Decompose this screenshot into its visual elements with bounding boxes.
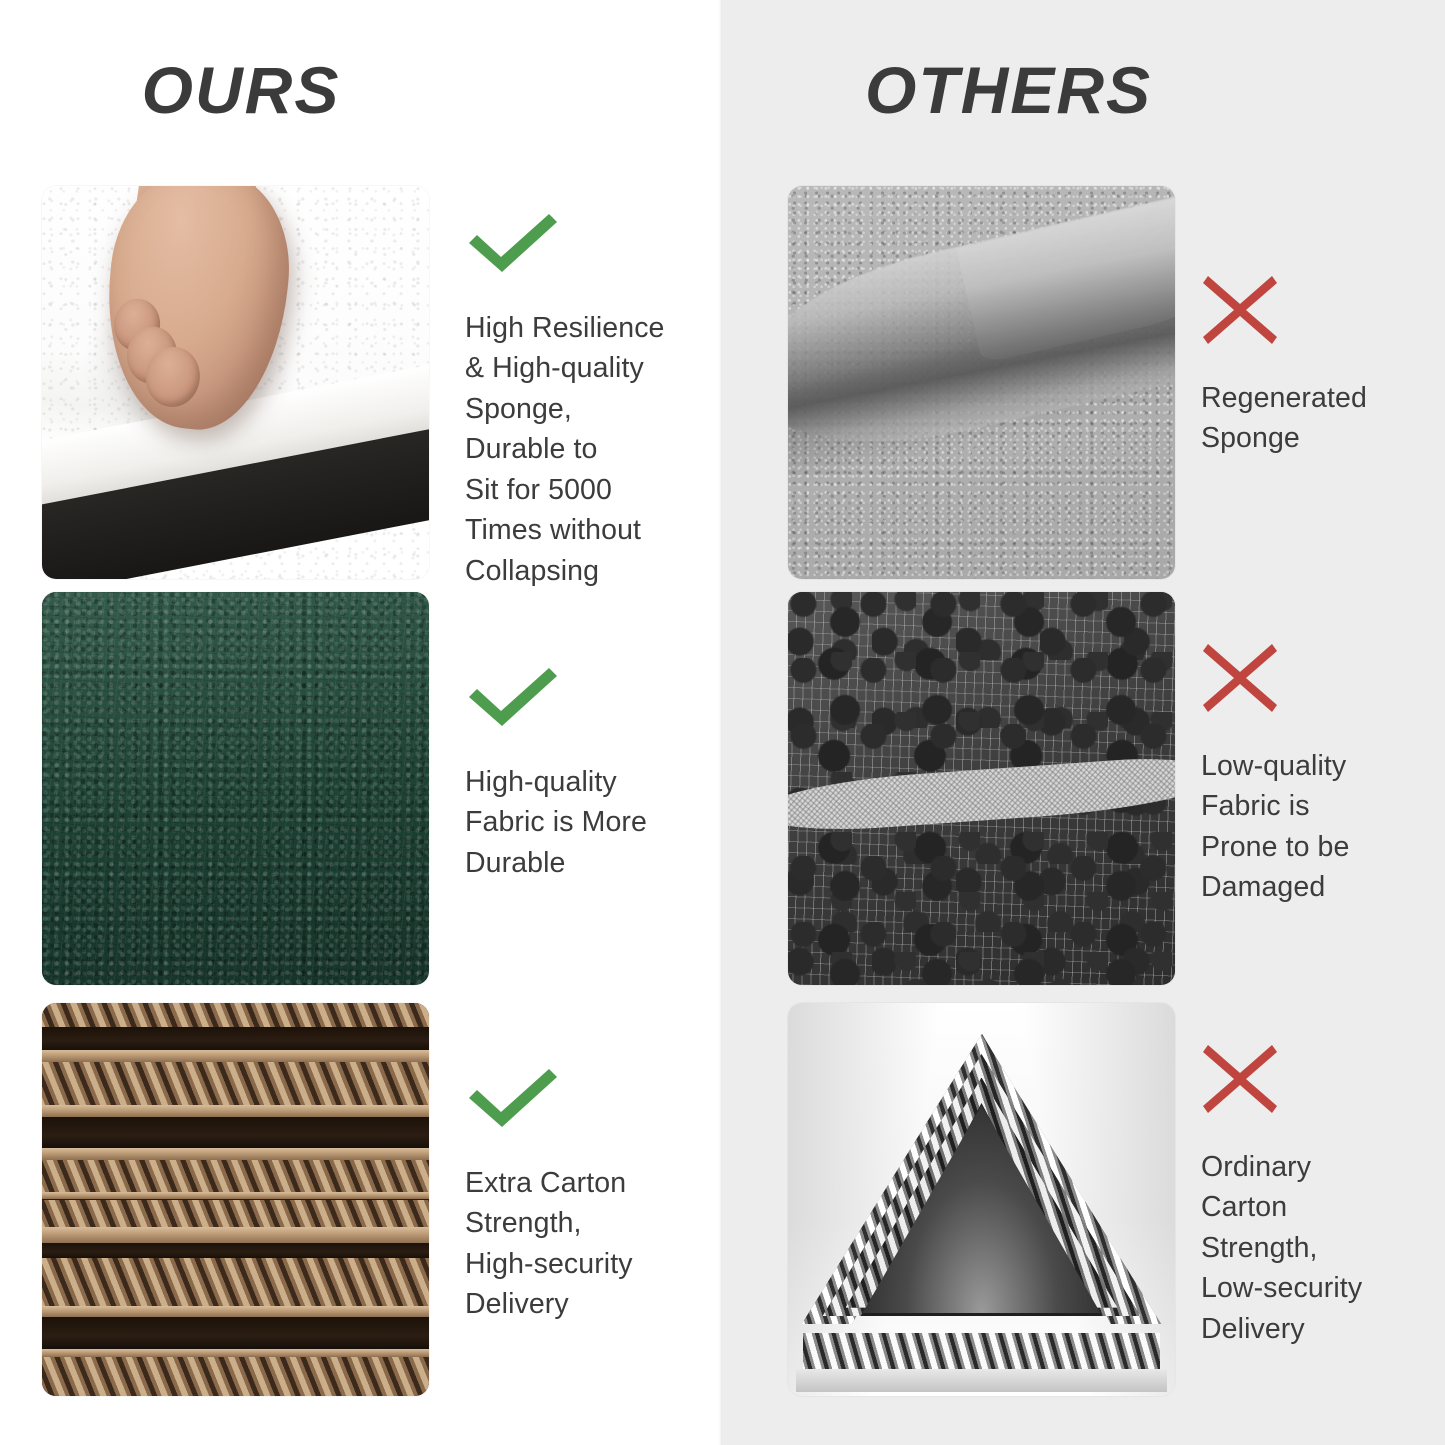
others-text-carton: Ordinary Carton Strength, Low-security D… xyxy=(1201,1147,1445,1349)
others-row-sponge: Regenerated Sponge xyxy=(788,186,1445,579)
cross-icon xyxy=(1201,274,1445,346)
brown-corrugated-carton-layers-photo xyxy=(42,1003,429,1396)
others-text-fabric: Low-quality Fabric is Prone to be Damage… xyxy=(1201,746,1445,908)
ours-text-fabric: High-quality Fabric is More Durable xyxy=(465,762,719,883)
hand-pressing-white-foam-photo xyxy=(42,186,429,579)
ours-row-fabric: High-quality Fabric is More Durable xyxy=(42,592,719,985)
ours-text-sponge: High Resilience & High-quality Sponge, D… xyxy=(465,308,719,591)
check-icon xyxy=(465,1067,719,1131)
cross-icon xyxy=(1201,642,1445,714)
others-caption-fabric: Low-quality Fabric is Prone to be Damage… xyxy=(1175,592,1445,908)
others-text-sponge: Regenerated Sponge xyxy=(1201,378,1445,459)
gray-ordinary-carton-photo xyxy=(788,1003,1175,1396)
others-panel: OTHERS Regenerated Sponge xyxy=(722,0,1445,1445)
ours-caption-sponge: High Resilience & High-quality Sponge, D… xyxy=(429,186,719,591)
ours-caption-fabric: High-quality Fabric is More Durable xyxy=(429,592,719,883)
gray-regenerated-sponge-photo xyxy=(788,186,1175,579)
others-row-fabric: Low-quality Fabric is Prone to be Damage… xyxy=(788,592,1445,985)
ours-panel: OURS xyxy=(0,0,722,1445)
green-leather-fabric-photo xyxy=(42,592,429,985)
check-icon xyxy=(465,666,719,730)
ours-title: OURS xyxy=(0,52,722,128)
others-title: OTHERS xyxy=(722,52,1445,128)
check-icon xyxy=(465,212,719,276)
others-caption-carton: Ordinary Carton Strength, Low-security D… xyxy=(1175,1003,1445,1349)
ours-text-carton: Extra Carton Strength, High-security Del… xyxy=(465,1163,719,1325)
cracked-low-quality-fabric-photo xyxy=(788,592,1175,985)
others-row-carton: Ordinary Carton Strength, Low-security D… xyxy=(788,1003,1445,1396)
ours-row-sponge: High Resilience & High-quality Sponge, D… xyxy=(42,186,719,591)
cross-icon xyxy=(1201,1043,1445,1115)
ours-caption-carton: Extra Carton Strength, High-security Del… xyxy=(429,1003,719,1325)
others-caption-sponge: Regenerated Sponge xyxy=(1175,186,1445,459)
ours-row-carton: Extra Carton Strength, High-security Del… xyxy=(42,1003,719,1396)
comparison-infographic: OURS xyxy=(0,0,1445,1445)
